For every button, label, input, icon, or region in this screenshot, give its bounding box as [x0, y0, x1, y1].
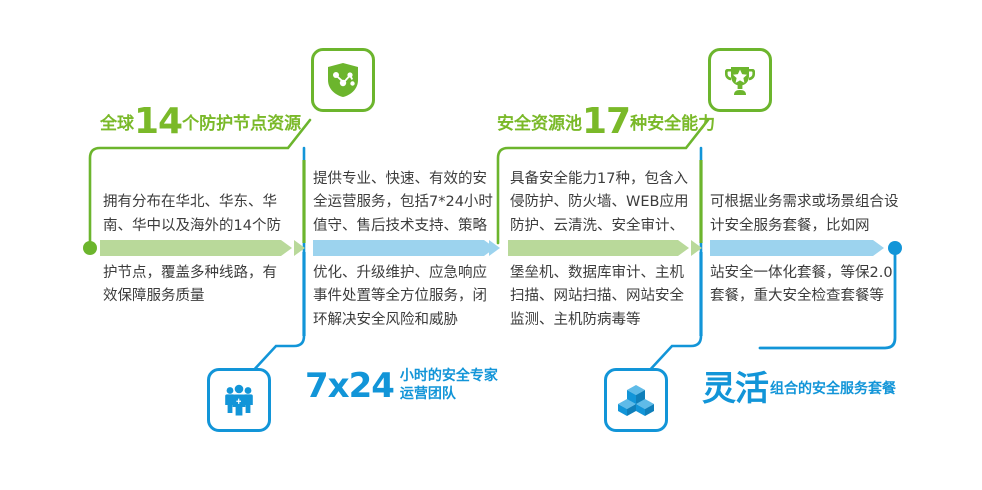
body-col4-lower-wrap: 站安全一体化套餐，等保2.0套餐，重大安全检查套餐等	[710, 262, 892, 348]
cubes-stack-icon	[618, 383, 654, 417]
body-col4-lower: 站安全一体化套餐，等保2.0套餐，重大安全检查套餐等	[710, 262, 900, 309]
people-group-icon-box	[207, 368, 271, 432]
shield-network-icon	[326, 62, 360, 98]
body-col1-upper-wrap: 拥有分布在华北、华东、华南、华中以及海外的14个防	[103, 152, 285, 238]
headline-col3-suffix: 种安全能力	[630, 114, 715, 134]
headline-col2-small-line1: 小时的安全专家	[400, 368, 498, 384]
arrow-4	[710, 240, 884, 256]
headline-col3-prefix: 安全资源池	[497, 114, 582, 134]
shield-network-icon-box	[311, 48, 375, 112]
headline-col2-small: 小时的安全专家 运营团队	[400, 368, 498, 403]
headline-col1-prefix: 全球	[100, 114, 134, 134]
body-col3-lower: 堡垒机、数据库审计、主机扫描、网站扫描、网站安全监测、主机防病毒等	[510, 262, 692, 332]
cubes-stack-icon-box	[604, 368, 668, 432]
body-col4-upper-wrap: 可根据业务需求或场景组合设计安全服务套餐，比如网	[710, 152, 892, 238]
headline-col1: 全球14个防护节点资源	[100, 104, 301, 140]
body-col1-lower: 护节点，覆盖多种线路，有效保障服务质量	[103, 262, 285, 309]
infographic-canvas: 全球14个防护节点资源 安全资源池17种安全能力 7x24 小时的安全专家 运营…	[0, 0, 982, 490]
trophy-star-icon-box	[708, 48, 772, 112]
headline-col3: 安全资源池17种安全能力	[497, 104, 715, 140]
headline-col4-flexible: 灵活 组合的安全服务套餐	[702, 372, 896, 406]
headline-col1-number: 14	[134, 101, 182, 142]
headline-col4-small: 组合的安全服务套餐	[770, 382, 896, 396]
people-group-icon	[222, 383, 256, 417]
body-col3-upper: 具备安全能力17种，包含入侵防护、防火墙、WEB应用防护、云清洗、安全审计、	[510, 168, 692, 238]
arrow-2	[313, 240, 495, 256]
arrow-1	[100, 240, 292, 256]
node-dot-start	[83, 241, 97, 255]
body-col1-lower-wrap: 护节点，覆盖多种线路，有效保障服务质量	[103, 262, 285, 348]
headline-col1-suffix: 个防护节点资源	[182, 114, 301, 134]
body-col2-lower-wrap: 优化、升级维护、应急响应事件处置等全方位服务，闭环解决安全风险和威胁	[313, 262, 495, 348]
body-col2-upper-wrap: 提供专业、快速、有效的安全运营服务，包括7*24小时值守、售后技术支持、策略	[313, 152, 495, 238]
headline-col2-big: 7x24	[305, 369, 394, 403]
body-col2-lower: 优化、升级维护、应急响应事件处置等全方位服务，闭环解决安全风险和威胁	[313, 262, 495, 332]
body-col3-upper-wrap: 具备安全能力17种，包含入侵防护、防火墙、WEB应用防护、云清洗、安全审计、	[510, 152, 692, 238]
body-col3-lower-wrap: 堡垒机、数据库审计、主机扫描、网站扫描、网站安全监测、主机防病毒等	[510, 262, 692, 348]
headline-col2-small-line2: 运营团队	[400, 386, 456, 402]
body-col2-upper: 提供专业、快速、有效的安全运营服务，包括7*24小时值守、售后技术支持、策略	[313, 168, 495, 238]
node-dot-end	[888, 241, 902, 255]
headline-col4-big: 灵活	[702, 372, 768, 406]
headline-col3-number: 17	[582, 101, 630, 142]
trophy-star-icon	[723, 63, 757, 97]
headline-col2-7x24: 7x24 小时的安全专家 运营团队	[305, 368, 498, 403]
body-col1-upper: 拥有分布在华北、华东、华南、华中以及海外的14个防	[103, 191, 285, 238]
body-col4-upper: 可根据业务需求或场景组合设计安全服务套餐，比如网	[710, 191, 900, 238]
connector-lines-layer	[0, 0, 982, 490]
arrow-3	[508, 240, 689, 256]
